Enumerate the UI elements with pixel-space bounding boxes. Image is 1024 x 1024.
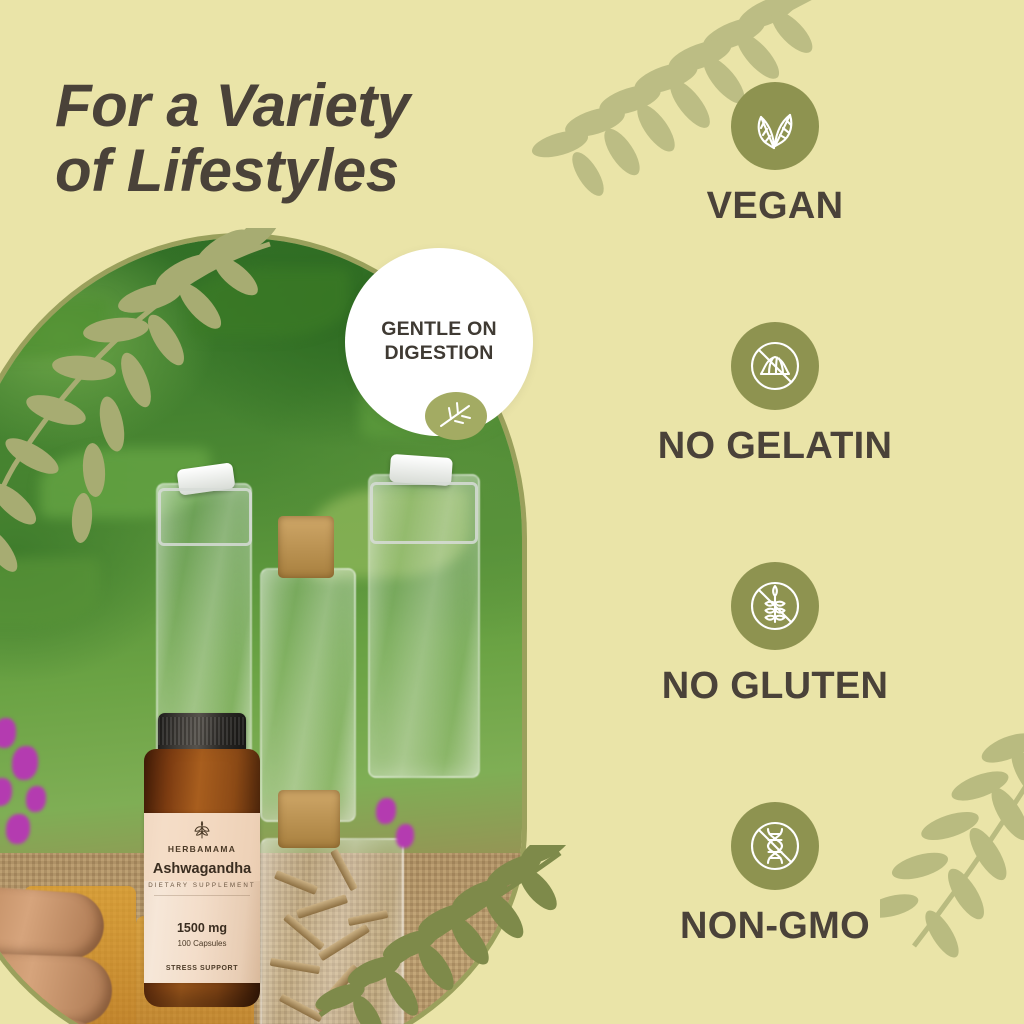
bottle-product-name: Ashwagandha (144, 861, 260, 877)
badge-line-2: DIGESTION (381, 342, 497, 366)
bottle-dosage: 1500 mg (144, 921, 260, 935)
feature-no-gelatin: NO GELATIN (560, 322, 990, 468)
feature-label: NON-GMO (560, 905, 990, 948)
two-leaves-icon (731, 82, 819, 170)
page-title-line-2: of Lifestyles (55, 139, 575, 204)
badge-text: GENTLE ON DIGESTION (381, 318, 497, 366)
herbamama-logo-icon (144, 821, 260, 842)
feature-list: VEGAN NO GELATIN (560, 0, 1024, 1024)
no-gelatin-icon (731, 322, 819, 410)
feature-label: NO GLUTEN (560, 665, 990, 708)
bottle-claim: STRESS SUPPORT (144, 965, 260, 972)
feature-non-gmo: NON-GMO (560, 802, 990, 948)
feature-vegan: VEGAN (560, 82, 990, 228)
no-gluten-wheat-icon (731, 562, 819, 650)
bottle-label: HERBAMAMA Ashwagandha DIETARY SUPPLEMENT… (144, 813, 260, 983)
feature-no-gluten: NO GLUTEN (560, 562, 990, 708)
bottle-subtitle: DIETARY SUPPLEMENT (144, 882, 260, 889)
product-feature-poster: For a Variety of Lifestyles (0, 0, 1024, 1024)
bottle-count: 100 Capsules (144, 939, 260, 948)
badge-leaf-icon (425, 392, 487, 440)
glass-jar (260, 568, 356, 822)
feature-label: NO GELATIN (560, 425, 990, 468)
page-title-line-1: For a Variety (55, 72, 410, 139)
feature-label: VEGAN (560, 185, 990, 228)
bottle-brand: HERBAMAMA (144, 844, 260, 854)
supplement-bottle: HERBAMAMA Ashwagandha DIETARY SUPPLEMENT… (136, 713, 268, 1008)
no-gmo-dna-icon (731, 802, 819, 890)
badge-line-1: GENTLE ON (381, 318, 497, 342)
page-title: For a Variety of Lifestyles (55, 74, 575, 204)
label-divider (154, 895, 250, 896)
